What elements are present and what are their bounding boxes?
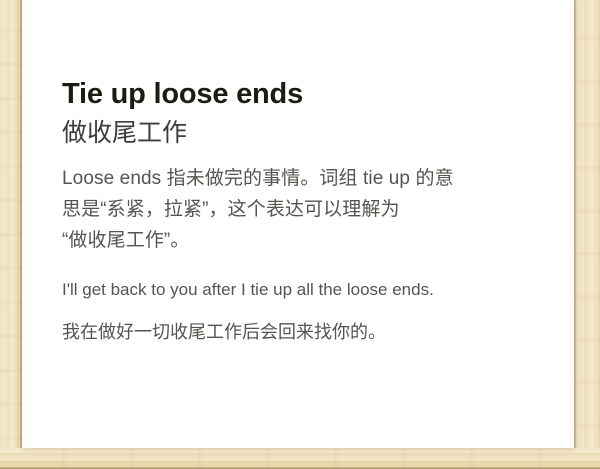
card-content: Tie up loose ends 做收尾工作 Loose ends 指未做完的…	[62, 78, 542, 346]
wooden-desk-background: Tie up loose ends 做收尾工作 Loose ends 指未做完的…	[0, 0, 600, 469]
definition-line: 思是“系紧，拉紧”，这个表达可以理解为	[62, 195, 542, 226]
definition-line: “做收尾工作”。	[62, 226, 542, 257]
wood-plank-bottom	[0, 448, 600, 469]
page-subtitle: 做收尾工作	[62, 119, 542, 148]
definition-line: Loose ends 指未做完的事情。词组 tie up 的意	[62, 164, 542, 195]
definition-paragraph: Loose ends 指未做完的事情。词组 tie up 的意 思是“系紧，拉紧…	[62, 164, 542, 256]
page-title: Tie up loose ends	[62, 78, 542, 110]
wood-plank-right	[574, 0, 600, 469]
example-sentence-chinese: 我在做好一切收尾工作后会回来找你的。	[62, 319, 542, 346]
wood-plank-left	[0, 0, 22, 469]
content-card: Tie up loose ends 做收尾工作 Loose ends 指未做完的…	[22, 0, 574, 448]
example-sentence-english: I'll get back to you after I tie up all …	[62, 277, 542, 303]
